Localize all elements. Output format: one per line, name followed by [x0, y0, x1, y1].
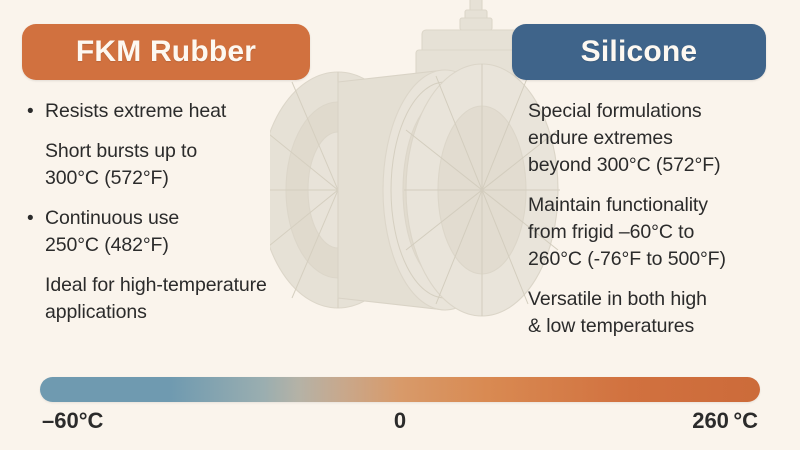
header-label-fkm: FKM Rubber — [76, 37, 256, 67]
list-item: Versatile in both high — [528, 286, 790, 313]
scale-label-max: 260 °C — [692, 408, 758, 434]
list-item: endure extremes — [528, 125, 790, 152]
scale-label-mid: 0 — [0, 408, 800, 434]
list-item: beyond 300°C (572°F) — [528, 152, 790, 179]
header-label-silicone: Silicone — [581, 37, 698, 67]
temperature-gradient-bar — [40, 377, 760, 402]
list-item: 250°C (482°F) — [24, 232, 324, 259]
list-item: from frigid –60°C to — [528, 219, 790, 246]
list-item: Short bursts up to — [24, 138, 324, 165]
header-pill-fkm: FKM Rubber — [22, 24, 310, 80]
list-item: Maintain functionality — [528, 192, 790, 219]
list-item: 300°C (572°F) — [24, 165, 324, 192]
list-item: & low temperatures — [528, 313, 790, 340]
list-item: 260°C (-76°F to 500°F) — [528, 246, 790, 273]
list-item: Special formulations — [528, 98, 790, 125]
infographic-canvas: FKM Rubber Silicone Resists extreme heat… — [0, 0, 800, 450]
silicone-column: Special formulations endure extremes bey… — [528, 98, 790, 340]
list-item: Continuous use — [24, 205, 324, 232]
list-item: Ideal for high-temperature — [24, 272, 324, 299]
fkm-rubber-column: Resists extreme heat Short bursts up to … — [24, 98, 324, 326]
list-item: Resists extreme heat — [24, 98, 324, 125]
list-item: applications — [24, 299, 324, 326]
header-pill-silicone: Silicone — [512, 24, 766, 80]
